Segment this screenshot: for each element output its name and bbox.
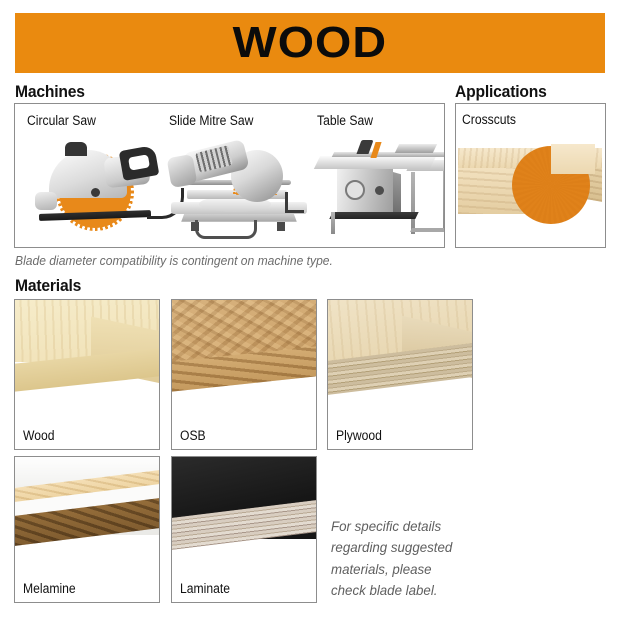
- laminate-swatch-icon: [172, 457, 316, 557]
- rear-handle: [167, 154, 198, 188]
- materials-disclaimer-note: For specific details regarding suggested…: [331, 516, 502, 601]
- height-handwheel: [345, 180, 365, 200]
- machines-section-heading: Machines: [15, 82, 85, 102]
- material-card-laminate: Laminate: [171, 456, 317, 603]
- material-card-wood: Wood: [14, 299, 160, 450]
- materials-section-heading: Materials: [15, 276, 81, 296]
- front-knob: [35, 192, 57, 210]
- applications-section-heading: Applications: [455, 82, 547, 102]
- material-label-osb: OSB: [180, 428, 206, 443]
- table-saw-icon: [315, 134, 445, 238]
- slide-mitre-saw-icon: [167, 136, 312, 238]
- application-label-crosscuts: Crosscuts: [462, 112, 516, 127]
- foot-right: [277, 222, 285, 231]
- control-knob: [375, 186, 384, 195]
- plywood-ply-layers: [328, 343, 472, 395]
- materials-note-line-3: materials, please: [331, 559, 502, 580]
- rip-fence: [395, 144, 437, 153]
- crosscut-blade-icon: [458, 130, 605, 242]
- header-banner: WOOD: [15, 13, 605, 73]
- material-card-plywood: Plywood: [327, 299, 473, 450]
- blade-kerf-mask: [551, 144, 595, 174]
- material-card-melamine: Melamine: [14, 456, 160, 603]
- plywood-swatch-icon: [328, 300, 472, 400]
- material-label-plywood: Plywood: [336, 428, 382, 443]
- osb-swatch-icon: [172, 300, 316, 400]
- top-handle: [65, 142, 87, 156]
- leg-rear-right: [443, 168, 445, 232]
- materials-note-line-2: regarding suggested: [331, 537, 502, 558]
- wood-swatch-icon: [15, 300, 159, 400]
- applications-panel: Crosscuts: [455, 103, 606, 248]
- materials-note-line-4: check blade label.: [331, 580, 502, 601]
- machine-label-table-saw: Table Saw: [317, 113, 373, 128]
- circular-saw-icon: [29, 140, 169, 238]
- page-title: WOOD: [233, 21, 388, 65]
- material-label-laminate: Laminate: [180, 581, 230, 596]
- leg-rear-left: [411, 172, 415, 234]
- wood-edge-face: [15, 348, 159, 391]
- melamine-swatch-icon: [15, 457, 159, 557]
- materials-note-line-1: For specific details: [331, 516, 502, 537]
- leg-front: [331, 212, 335, 234]
- machine-label-slide-mitre-saw: Slide Mitre Saw: [169, 113, 253, 128]
- osb-edge-face: [172, 346, 316, 391]
- base-rail: [410, 228, 445, 232]
- material-label-melamine: Melamine: [23, 581, 76, 596]
- carry-handle: [195, 220, 257, 239]
- machines-panel: Circular Saw Slide Mitre Saw Table Saw: [14, 103, 445, 248]
- blade-compatibility-note: Blade diameter compatibility is continge…: [15, 253, 333, 268]
- material-label-wood: Wood: [23, 428, 55, 443]
- lower-shelf: [329, 212, 418, 219]
- foot-left: [191, 222, 199, 231]
- work-clamp: [285, 192, 304, 213]
- material-card-osb: OSB: [171, 299, 317, 450]
- arbor-nut: [91, 188, 100, 197]
- machine-label-circular-saw: Circular Saw: [27, 113, 96, 128]
